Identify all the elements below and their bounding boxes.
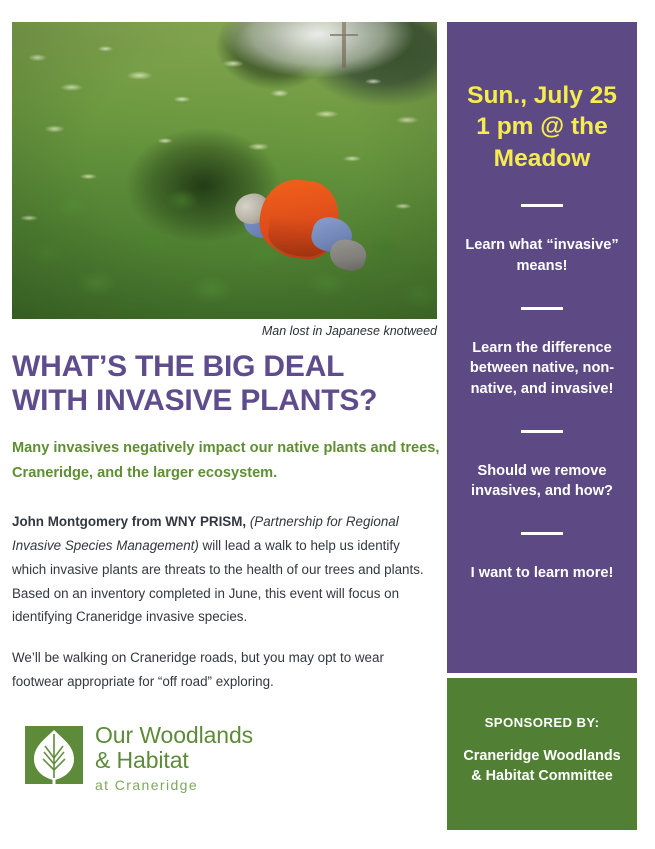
sidebar-bullet-4: I want to learn more! <box>460 563 624 584</box>
body-paragraph-1: John Montgomery from WNY PRISM, (Partner… <box>12 510 436 629</box>
body-paragraph-2: We’ll be walking on Craneridge roads, bu… <box>12 646 436 694</box>
logo-line-2: & Habitat <box>95 748 253 773</box>
logo-green-square <box>25 726 83 784</box>
event-datetime: Sun., July 25 1 pm @ the Meadow <box>460 80 624 174</box>
event-date: Sun., July 25 <box>460 80 624 111</box>
event-location: Meadow <box>460 143 624 174</box>
leaf-icon <box>25 726 83 798</box>
subheading: Many invasives negatively impact our nat… <box>12 436 444 486</box>
sponsor-label: SPONSORED BY: <box>447 715 637 730</box>
event-details-panel: Sun., July 25 1 pm @ the Meadow Learn wh… <box>447 22 637 673</box>
sidebar-bullet-1: Learn what “invasive” means! <box>460 235 624 276</box>
sponsor-name: Craneridge Woodlands & Habitat Committee <box>447 747 637 787</box>
headline-line-2: WITH INVASIVE PLANTS? <box>12 384 442 418</box>
knotweed-photo <box>12 22 437 319</box>
page-title: WHAT’S THE BIG DEAL WITH INVASIVE PLANTS… <box>12 350 442 417</box>
sponsor-name-line-1: Craneridge Woodlands <box>447 747 637 767</box>
sponsor-name-line-2: & Habitat Committee <box>447 767 637 787</box>
sponsor-panel: SPONSORED BY: Craneridge Woodlands & Hab… <box>447 678 637 830</box>
logo-wordmark: Our Woodlands & Habitat at Craneridge <box>95 723 253 793</box>
logo-line-1: Our Woodlands <box>95 723 253 748</box>
divider-1 <box>521 204 563 207</box>
divider-2 <box>521 307 563 310</box>
divider-4 <box>521 532 563 535</box>
headline-line-1: WHAT’S THE BIG DEAL <box>12 350 442 384</box>
divider-3 <box>521 430 563 433</box>
organization-logo: Our Woodlands & Habitat at Craneridge <box>25 726 285 808</box>
logo-line-3: at Craneridge <box>95 777 253 793</box>
event-time: 1 pm @ the <box>460 111 624 142</box>
photo-vignette <box>12 22 437 319</box>
photo-caption: Man lost in Japanese knotweed <box>12 324 437 338</box>
body-copy: John Montgomery from WNY PRISM, (Partner… <box>12 510 436 711</box>
sidebar-bullet-2: Learn the difference between native, non… <box>460 338 624 400</box>
presenter-name: John Montgomery from WNY PRISM, <box>12 514 250 529</box>
sidebar-bullet-3: Should we remove invasives, and how? <box>460 461 624 502</box>
